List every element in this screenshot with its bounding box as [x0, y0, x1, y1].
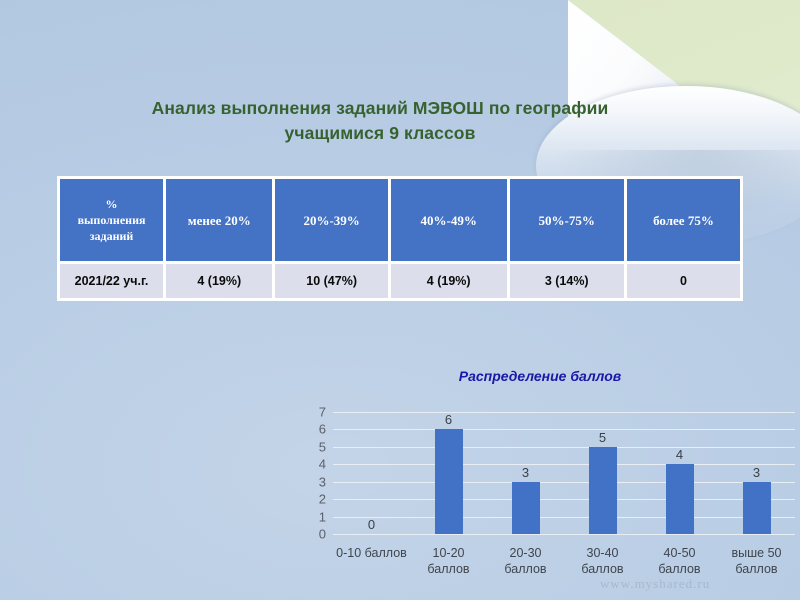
chart-y-tick-4: 4	[319, 457, 326, 472]
table-header-cell-band-1: менее 20%	[166, 179, 272, 261]
chart-y-tick-2: 2	[319, 492, 326, 507]
table-row: 2021/22 уч.г. 4 (19%) 10 (47%) 4 (19%) 3…	[60, 264, 740, 298]
chart-y-axis: 76543210	[300, 412, 326, 534]
chart-y-tick-5: 5	[319, 439, 326, 454]
page-title: Анализ выполнения заданий МЭВОШ по геогр…	[60, 96, 700, 146]
chart-y-tick-1: 1	[319, 509, 326, 524]
chart-x-tick-label: 0-10 баллов	[333, 545, 410, 577]
chart-bar-value-label: 3	[522, 466, 529, 480]
table-header-cell-band-4: 50%-75%	[510, 179, 624, 261]
chart-x-tick-line: баллов	[564, 561, 641, 577]
chart-bar[interactable]	[666, 464, 694, 534]
chart-x-tick-line: 10-20	[410, 545, 487, 561]
chart-bar[interactable]	[435, 429, 463, 534]
chart-bar-value-label: 4	[676, 448, 683, 462]
table-cell-band-3: 4 (19%)	[391, 264, 507, 298]
chart-bar-cell[interactable]: 3	[718, 412, 795, 534]
chart-y-tick-3: 3	[319, 474, 326, 489]
chart-gridline-0	[333, 534, 795, 535]
table-cell-band-1: 4 (19%)	[166, 264, 272, 298]
table-header-metric-line-2: выполнения	[63, 212, 160, 228]
chart-x-tick-line: 0-10 баллов	[333, 545, 410, 561]
results-table-wrapper: % выполнения заданий менее 20% 20%-39% 4…	[57, 176, 743, 301]
chart-x-tick-label: 10-20баллов	[410, 545, 487, 577]
chart-x-tick-line: выше 50	[718, 545, 795, 561]
chart-bar-cell[interactable]: 0	[333, 412, 410, 534]
chart-x-tick-line: 20-30	[487, 545, 564, 561]
chart-bar-cell[interactable]: 4	[641, 412, 718, 534]
table-header-cell-band-3: 40%-49%	[391, 179, 507, 261]
chart-bar-cell[interactable]: 6	[410, 412, 487, 534]
table-cell-band-4: 3 (14%)	[510, 264, 624, 298]
chart-bar[interactable]	[589, 447, 617, 534]
chart-x-tick-line: 30-40	[564, 545, 641, 561]
results-table: % выполнения заданий менее 20% 20%-39% 4…	[57, 176, 743, 301]
chart-plot-area: 063543	[333, 412, 795, 534]
chart-y-tick-7: 7	[319, 405, 326, 420]
chart-x-tick-label: выше 50баллов	[718, 545, 795, 577]
chart-x-tick-label: 40-50баллов	[641, 545, 718, 577]
chart-x-tick-line: баллов	[641, 561, 718, 577]
table-cell-band-5: 0	[627, 264, 740, 298]
chart-y-tick-6: 6	[319, 422, 326, 437]
table-header-cell-metric: % выполнения заданий	[60, 179, 163, 261]
table-cell-band-2: 10 (47%)	[275, 264, 387, 298]
chart-x-tick-label: 20-30баллов	[487, 545, 564, 577]
score-distribution-chart: 76543210 063543	[300, 412, 800, 552]
page-title-line-1: Анализ выполнения заданий МЭВОШ по геогр…	[60, 96, 700, 121]
chart-bar[interactable]	[743, 482, 771, 534]
slide-canvas: Анализ выполнения заданий МЭВОШ по геогр…	[0, 0, 800, 600]
chart-x-tick-label: 30-40баллов	[564, 545, 641, 577]
watermark: www.myshared.ru	[600, 576, 710, 592]
table-header-metric-line-3: заданий	[63, 228, 160, 244]
chart-x-tick-line: баллов	[487, 561, 564, 577]
chart-bar-value-label: 0	[368, 518, 375, 532]
table-header-row: % выполнения заданий менее 20% 20%-39% 4…	[60, 179, 740, 261]
chart-x-tick-line: баллов	[410, 561, 487, 577]
chart-y-tick-0: 0	[319, 527, 326, 542]
chart-bar-value-label: 3	[753, 466, 760, 480]
chart-bar-cell[interactable]: 3	[487, 412, 564, 534]
chart-bar-cell[interactable]: 5	[564, 412, 641, 534]
chart-bar-value-label: 5	[599, 431, 606, 445]
chart-bars: 063543	[333, 412, 795, 534]
table-header-cell-band-2: 20%-39%	[275, 179, 387, 261]
chart-x-tick-line	[333, 561, 410, 577]
table-header-cell-band-5: более 75%	[627, 179, 740, 261]
table-header-metric-line-1: %	[63, 196, 160, 212]
chart-x-tick-line: баллов	[718, 561, 795, 577]
chart-bar[interactable]	[512, 482, 540, 534]
page-title-line-2: учащимися 9 классов	[60, 121, 700, 146]
chart-x-tick-line: 40-50	[641, 545, 718, 561]
chart-title: Распределение баллов	[330, 368, 750, 384]
chart-bar-value-label: 6	[445, 413, 452, 427]
table-cell-year-label: 2021/22 уч.г.	[60, 264, 163, 298]
chart-x-axis: 0-10 баллов 10-20баллов20-30баллов30-40б…	[333, 545, 795, 577]
